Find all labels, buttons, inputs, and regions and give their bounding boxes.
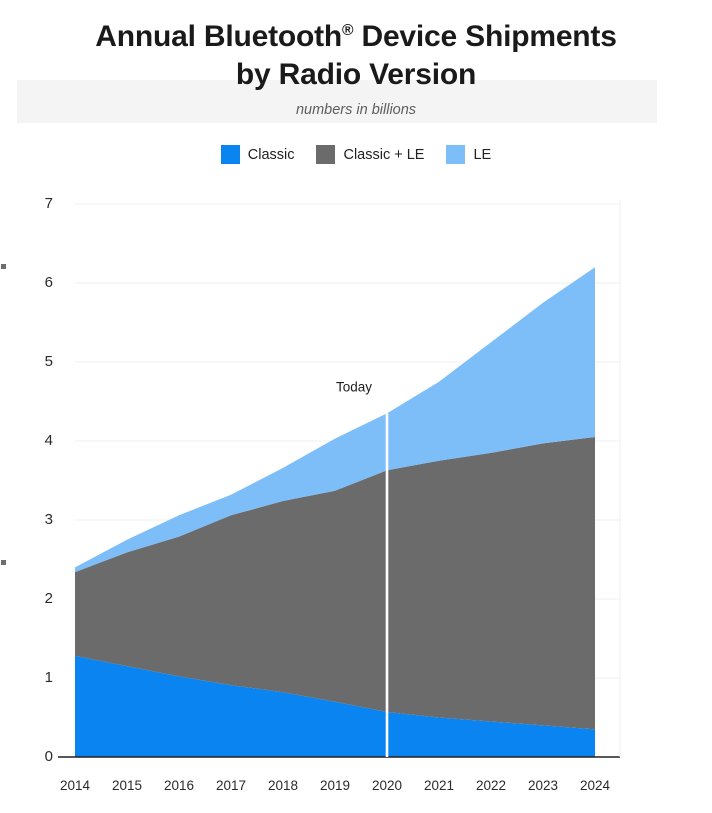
x-axis-tick-2019: 2019 — [320, 778, 350, 793]
chart-subtitle: numbers in billions — [0, 102, 712, 118]
x-axis-tick-2022: 2022 — [476, 778, 506, 793]
x-axis-tick-2015: 2015 — [112, 778, 142, 793]
chart-plot-area: Today 01234567 2014201520162017201820192… — [0, 0, 712, 813]
x-axis-tick-2018: 2018 — [268, 778, 298, 793]
y-axis-tick-3: 3 — [45, 511, 53, 528]
legend-swatch-classic — [221, 145, 240, 164]
legend-label-classic-le: Classic + LE — [343, 147, 424, 163]
y-axis-tick-5: 5 — [45, 353, 53, 370]
title-text-part2: Device Shipments — [353, 20, 616, 53]
legend-item-classic-le[interactable]: Classic + LE — [316, 145, 424, 164]
area-chart-svg: Today 01234567 2014201520162017201820192… — [0, 0, 712, 813]
title-text-line2: by Radio Version — [236, 58, 476, 91]
title-text-part1: Annual Bluetooth — [95, 20, 342, 53]
chart-header: Annual Bluetooth® Device Shipments by Ra… — [0, 18, 712, 118]
legend-item-le[interactable]: LE — [446, 145, 491, 164]
x-axis-tick-2020: 2020 — [372, 778, 402, 793]
legend-label-le: LE — [473, 147, 491, 163]
x-axis-tick-2017: 2017 — [216, 778, 246, 793]
registered-trademark-icon: ® — [342, 22, 353, 39]
y-axis-tick-4: 4 — [45, 432, 53, 449]
y-axis-labels-group: 01234567 — [45, 195, 53, 765]
legend-item-classic[interactable]: Classic — [221, 145, 295, 164]
area-series-group — [75, 267, 595, 757]
x-axis-tick-2024: 2024 — [580, 778, 611, 793]
y-axis-tick-6: 6 — [45, 274, 53, 291]
x-axis-tick-2014: 2014 — [60, 778, 91, 793]
y-axis-tick-7: 7 — [45, 195, 53, 212]
x-axis-tick-2016: 2016 — [164, 778, 194, 793]
y-axis-tick-2: 2 — [45, 590, 53, 607]
chart-legend: Classic Classic + LE LE — [0, 145, 712, 164]
legend-swatch-classic-le — [316, 145, 335, 164]
page-title: Annual Bluetooth® Device Shipments by Ra… — [0, 18, 712, 95]
y-axis-tick-1: 1 — [45, 669, 53, 686]
legend-swatch-le — [446, 145, 465, 164]
today-label: Today — [336, 379, 372, 394]
legend-label-classic: Classic — [248, 147, 295, 163]
x-axis-tick-2023: 2023 — [528, 778, 558, 793]
x-axis-labels-group: 2014201520162017201820192020202120222023… — [60, 778, 611, 793]
y-axis-tick-0: 0 — [45, 748, 53, 765]
x-axis-tick-2021: 2021 — [424, 778, 454, 793]
